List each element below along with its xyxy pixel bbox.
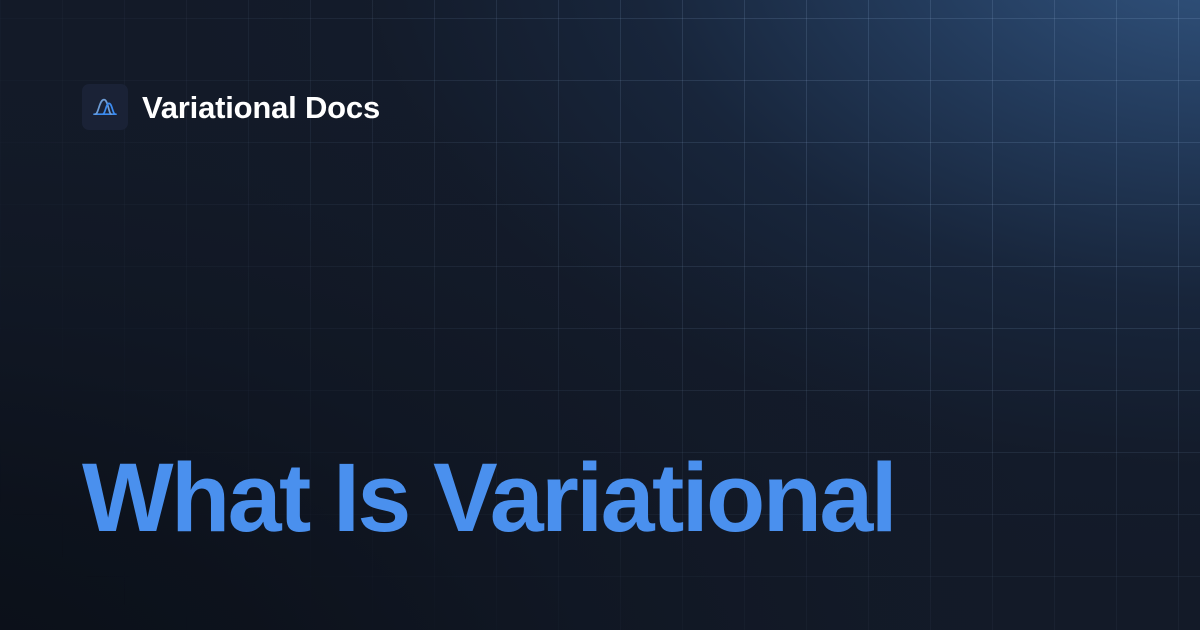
logo-badge [82, 84, 128, 130]
brand-name: Variational Docs [142, 92, 380, 123]
og-card: Variational Docs What Is Variational [0, 0, 1200, 630]
distribution-curves-icon [91, 93, 119, 121]
brand-lockup: Variational Docs [82, 84, 380, 130]
page-title: What Is Variational [82, 449, 895, 546]
